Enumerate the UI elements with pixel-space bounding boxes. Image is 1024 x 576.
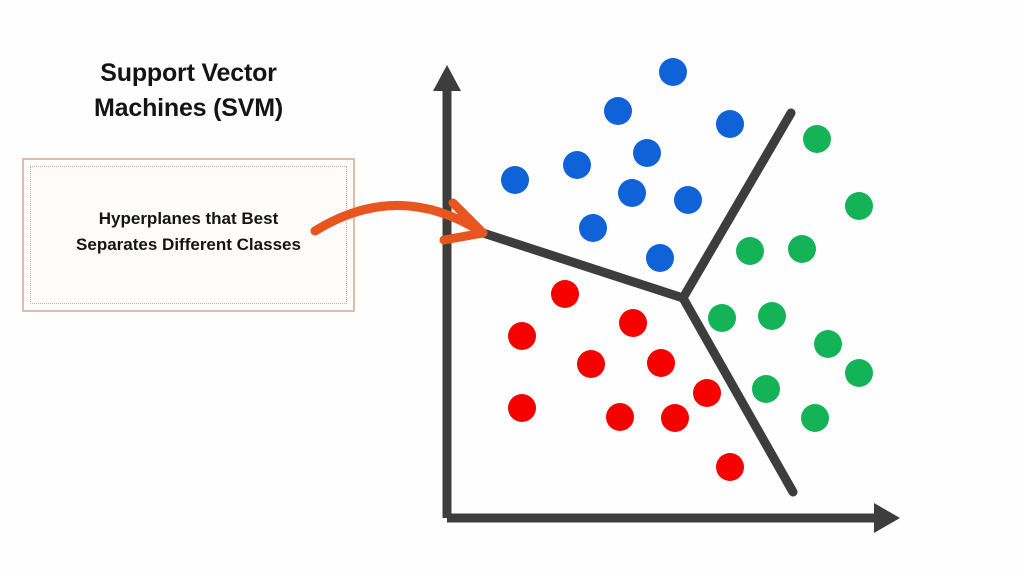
data-point-class-b — [661, 404, 689, 432]
svm-diagram-slide: Support Vector Machines (SVM) Hyperplane… — [0, 0, 1024, 576]
data-point-class-b — [508, 322, 536, 350]
data-point-class-c — [752, 375, 780, 403]
data-point-class-b — [693, 379, 721, 407]
data-point-class-b — [716, 453, 744, 481]
hyperplane-lines — [483, 113, 793, 492]
data-point-class-c — [801, 404, 829, 432]
data-point-class-c — [736, 237, 764, 265]
data-point-class-b — [619, 309, 647, 337]
data-point-class-a — [716, 110, 744, 138]
data-point-class-b — [508, 394, 536, 422]
data-point-class-a — [674, 186, 702, 214]
data-point-class-c — [845, 192, 873, 220]
data-points — [501, 58, 873, 481]
data-point-class-a — [579, 214, 607, 242]
data-point-class-c — [814, 330, 842, 358]
annotation-arrow — [315, 203, 483, 240]
data-point-class-b — [606, 403, 634, 431]
data-point-class-c — [788, 235, 816, 263]
data-point-class-a — [646, 244, 674, 272]
data-point-class-a — [659, 58, 687, 86]
x-axis-arrowhead — [874, 503, 900, 533]
data-point-class-b — [551, 280, 579, 308]
data-point-class-c — [708, 304, 736, 332]
data-point-class-a — [501, 166, 529, 194]
svm-scatter-plot — [0, 0, 1024, 576]
data-point-class-b — [577, 350, 605, 378]
data-point-class-c — [758, 302, 786, 330]
data-point-class-a — [633, 139, 661, 167]
data-point-class-b — [647, 349, 675, 377]
data-point-class-a — [618, 179, 646, 207]
y-axis-arrowhead — [433, 65, 461, 91]
data-point-class-c — [845, 359, 873, 387]
data-point-class-a — [563, 151, 591, 179]
data-point-class-a — [604, 97, 632, 125]
data-point-class-c — [803, 125, 831, 153]
